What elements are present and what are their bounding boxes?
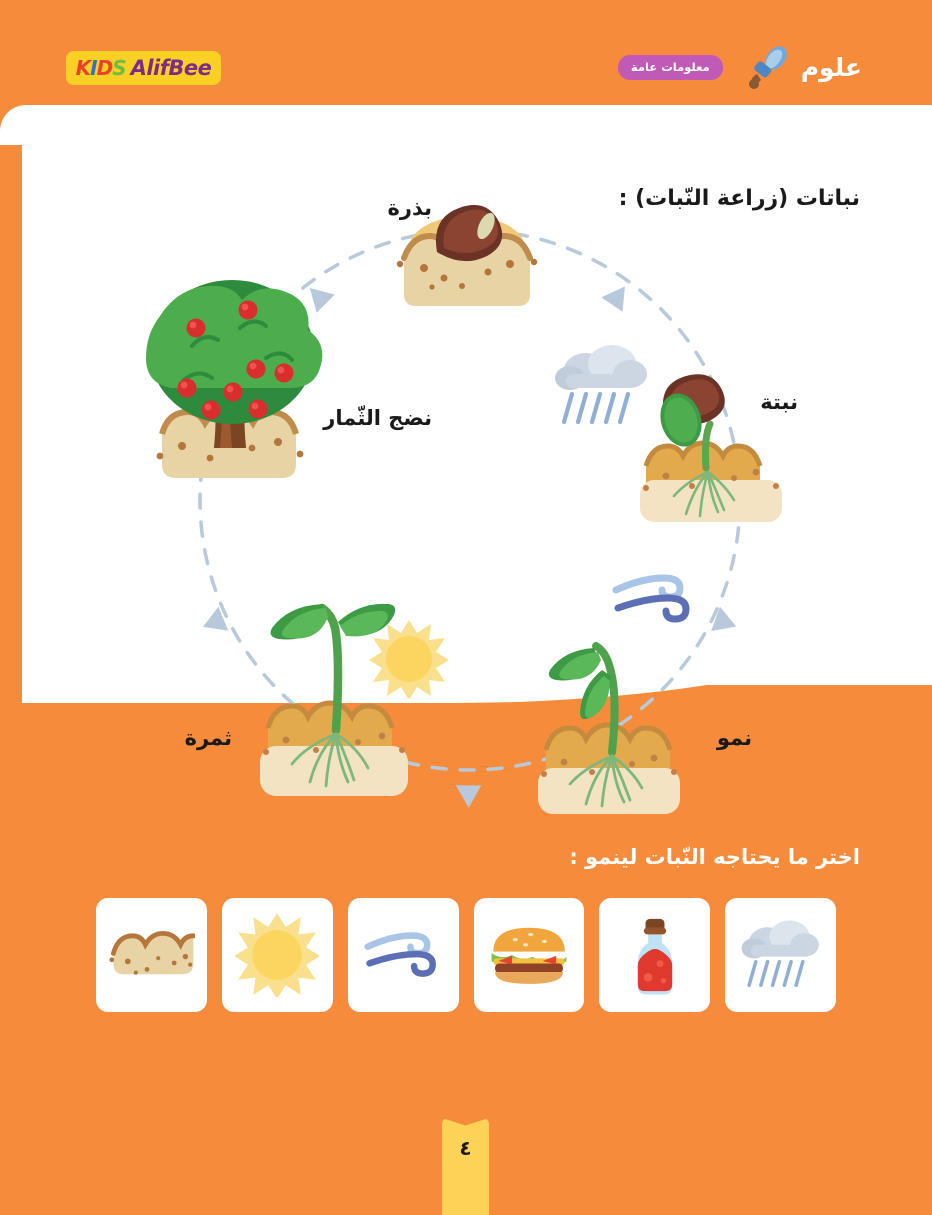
stage-label-growth: نمو xyxy=(717,726,752,750)
logo-kids-letter-k: K xyxy=(76,56,91,80)
page-number-ribbon: ٤ xyxy=(442,1118,489,1215)
option-card-sun[interactable] xyxy=(222,898,333,1012)
logo-brand-text: AlifBee xyxy=(131,56,212,80)
rain-cloud-icon xyxy=(739,915,823,995)
soil-icon xyxy=(107,924,195,986)
option-card-rain[interactable] xyxy=(725,898,836,1012)
panel-corner-notch xyxy=(0,105,40,145)
stage-label-fruit: ثمرة xyxy=(185,726,232,750)
cycle-arrow-bottom xyxy=(456,774,488,808)
page-header: AlifBee KIDS علوم معلومات عامة xyxy=(0,0,932,105)
subject-title: علوم xyxy=(801,55,862,80)
category-pill[interactable]: معلومات عامة xyxy=(618,55,723,80)
logo-kids-letter-d: D xyxy=(97,56,113,80)
alifbee-kids-logo[interactable]: AlifBee KIDS xyxy=(66,51,221,85)
sun-icon-diagram xyxy=(370,620,448,698)
logo-kids-letter-s: S xyxy=(112,56,125,80)
stage-label-seed: بذرة xyxy=(387,196,432,220)
page-title: نباتات (زراعة النّبات) : xyxy=(619,186,860,211)
option-card-wind[interactable] xyxy=(348,898,459,1012)
wind-icon xyxy=(364,926,442,984)
option-card-soil[interactable] xyxy=(96,898,207,1012)
page-number: ٤ xyxy=(442,1136,489,1160)
stage-ripening-icon xyxy=(140,276,326,526)
juice-bottle-icon xyxy=(629,912,681,998)
question-prompt: اختر ما يحتاجه النّبات لينمو : xyxy=(569,845,860,869)
stage-growth-icon xyxy=(528,600,688,815)
rain-cloud-icon xyxy=(552,340,652,432)
stage-label-ripening: نضج الثّمار xyxy=(323,406,432,430)
answer-options-row xyxy=(96,898,836,1012)
stage-label-sprout: نبتة xyxy=(760,390,798,414)
cycle-arrow-top-right xyxy=(601,286,634,317)
telescope-icon xyxy=(741,44,793,90)
sun-icon xyxy=(235,913,319,997)
option-card-bottle[interactable] xyxy=(599,898,710,1012)
burger-icon xyxy=(486,921,572,989)
subject-header-group: علوم معلومات عامة xyxy=(632,44,862,90)
logo-kids-text: KIDS xyxy=(76,56,126,80)
option-card-burger[interactable] xyxy=(474,898,585,1012)
